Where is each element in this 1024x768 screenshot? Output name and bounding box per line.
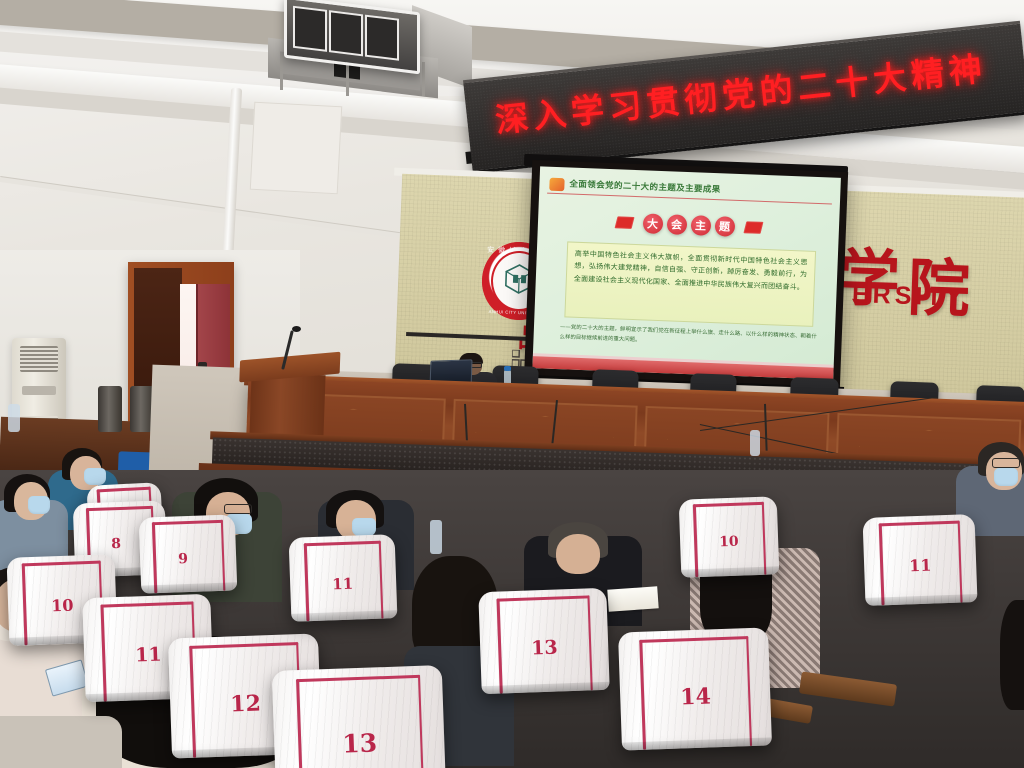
slide-badge: 会 [666,214,687,235]
chair-number: 10 [51,596,74,616]
slide-badge: 大 [642,213,663,234]
slide-bullet-icon [549,178,564,192]
slide-body-text: 高举中国特色社会主义伟大旗帜，全面贯彻新时代中国特色社会主义思想，弘扬伟大建党精… [574,248,808,294]
audience-chair[interactable]: 14 [618,627,772,750]
audience-person-hair [1000,600,1024,710]
slide-header: 全面领会党的二十大的主题及主要成果 [547,176,832,205]
face-mask [84,468,106,485]
bottle-cap [504,366,511,371]
chair-number: 13 [342,728,378,758]
slide-body-box: 高举中国特色社会主义伟大旗帜，全面贯彻新时代中国特色社会主义思想，弘扬伟大建党精… [564,241,816,327]
water-bottle [430,520,442,554]
slide-badge-row: 大 会 主 题 [538,206,840,244]
wall-access-panel [250,102,342,194]
slide-surface: 全面领会党的二十大的主题及主要成果 大 会 主 题 高举中国特色社会主义伟大旗帜… [532,166,841,379]
water-dispenser [98,386,122,432]
projector-rod [280,56,283,90]
chair-number: 9 [178,551,188,567]
eyeglasses [992,458,1020,468]
audience-chair[interactable]: 13 [272,665,447,768]
china-flag-icon [743,221,763,234]
audience-person-body [0,716,122,768]
audience-chair[interactable]: 11 [289,534,398,622]
chair-number: 11 [909,556,932,576]
wall-sign-latin: ERSITY [852,280,967,313]
ac-vent-upper [20,346,58,372]
chair-number: 12 [230,690,262,717]
projector-rod [422,62,425,96]
ac-control-panel[interactable] [22,386,56,395]
audience-chair[interactable]: 11 [862,514,977,606]
chair-number: 10 [719,534,739,551]
chair-number: 8 [111,536,121,552]
slide-title: 全面领会党的二十大的主题及主要成果 [569,177,721,195]
china-flag-icon [614,216,634,229]
projector-window [365,15,399,61]
chair-number: 13 [531,637,558,660]
slide-badge: 题 [714,216,735,237]
microphone-head [292,326,301,332]
chair-number: 11 [135,644,162,667]
water-bottle [750,430,760,456]
face-mask [28,496,50,514]
audience-chair[interactable]: 10 [679,496,780,577]
lecture-hall-photo: 深入学习贯彻党的二十大精神 安徽城市学院 ANHUI CITY UNIVERSI… [0,0,1024,768]
ceiling-projector [262,0,452,100]
projector-rod [346,62,349,96]
projector-window [329,10,363,56]
chair-number: 14 [680,683,712,710]
slide-footnote: ——党的二十大的主题，鲜明宣示了我们党在新征程上举什么旗、走什么路、以什么样的精… [559,323,817,352]
slide-badge: 主 [690,215,711,236]
water-bottle [8,404,20,432]
audience-chair[interactable]: 9 [139,514,238,593]
face-mask [352,518,376,536]
audience-person-head [556,534,600,574]
projector-window [293,6,327,52]
eyeglasses [224,504,252,514]
chair-number: 11 [332,575,353,594]
audience-chair[interactable]: 13 [478,588,609,694]
open-notebook [607,586,658,611]
face-mask [994,468,1018,486]
projection-screen: 全面领会党的二十大的主题及主要成果 大 会 主 题 高举中国特色社会主义伟大旗帜… [524,160,848,394]
